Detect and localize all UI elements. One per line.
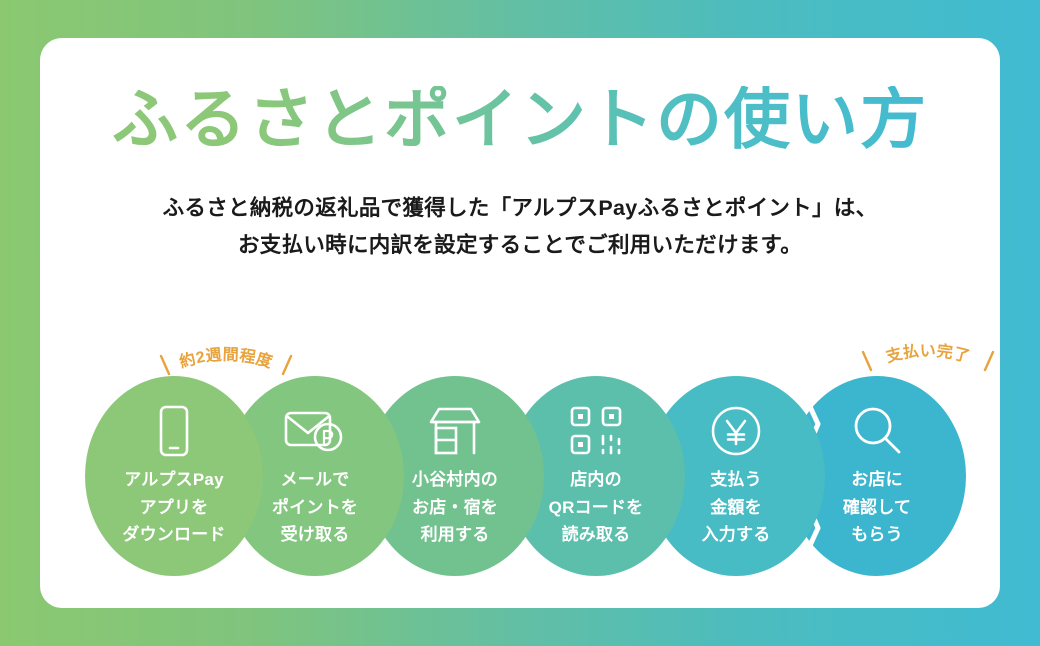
svg-text:支払い完了: 支払い完了	[883, 341, 972, 366]
qr-code-icon	[570, 402, 622, 460]
poster-root: ふるさとポイントの使い方 ふるさと納税の返礼品で獲得した「アルプスPayふるさと…	[0, 0, 1040, 646]
step-1-caption-line-3: ダウンロード	[122, 521, 225, 549]
step-2-caption-line-1: メールで	[272, 466, 358, 494]
step-5-caption-line-3: 入力する	[702, 521, 771, 549]
step-3-caption: 小谷村内のお店・宿を利用する	[412, 466, 498, 549]
yen-circle-icon	[710, 402, 762, 460]
step-6-caption: お店に確認してもらう	[843, 466, 911, 549]
steps-flow: アルプスPayアプリをダウンロードメールでポイントを受け取る小谷村内のお店・宿を…	[85, 338, 965, 588]
mail-point-icon	[284, 402, 346, 460]
step-6-caption-line-2: 確認して	[843, 494, 911, 522]
step-2-caption: メールでポイントを受け取る	[272, 466, 358, 549]
step-5-caption-line-2: 金額を	[702, 494, 771, 522]
step-3-caption-line-1: 小谷村内の	[412, 466, 498, 494]
magnifier-icon	[851, 402, 903, 460]
page-title: ふるさとポイントの使い方	[40, 86, 1000, 152]
step-3-caption-line-3: 利用する	[412, 521, 498, 549]
page-subtitle: ふるさと納税の返礼品で獲得した「アルプスPayふるさとポイント」は、 お支払い時…	[40, 190, 1000, 264]
badge-complete: 支払い完了	[853, 338, 1003, 370]
step-1-caption-line-1: アルプスPay	[122, 466, 225, 494]
step-1-caption: アルプスPayアプリをダウンロード	[122, 466, 225, 549]
step-4-caption-line-1: 店内の	[549, 466, 644, 494]
badge-duration: 約2週間程度	[151, 342, 301, 374]
step-2-caption-line-2: ポイントを	[272, 494, 358, 522]
step-6-caption-line-3: もらう	[843, 521, 911, 549]
step-5-caption: 支払う金額を入力する	[702, 466, 771, 549]
step-3-caption-line-2: お店・宿を	[412, 494, 498, 522]
step-4-caption: 店内のQRコードを読み取る	[549, 466, 644, 549]
step-2-caption-line-3: 受け取る	[272, 521, 358, 549]
badge-duration-text: 約2週間程度	[177, 346, 276, 372]
step-5-caption-line-1: 支払う	[702, 466, 771, 494]
smartphone-icon	[157, 402, 191, 460]
white-card: ふるさとポイントの使い方 ふるさと納税の返礼品で獲得した「アルプスPayふるさと…	[40, 38, 1000, 608]
svg-text:約2週間程度: 約2週間程度	[177, 346, 276, 372]
storefront-icon	[427, 402, 483, 460]
step-1-caption-line-2: アプリを	[122, 494, 225, 522]
step-4-caption-line-2: QRコードを	[549, 494, 644, 522]
subtitle-line-1: ふるさと納税の返礼品で獲得した「アルプスPayふるさとポイント」は、	[40, 190, 1000, 227]
step-1[interactable]: アルプスPayアプリをダウンロード	[85, 376, 263, 576]
subtitle-line-2: お支払い時に内訳を設定することでご利用いただけます。	[40, 227, 1000, 264]
badge-complete-text: 支払い完了	[883, 341, 972, 366]
step-4-caption-line-3: 読み取る	[549, 521, 644, 549]
step-6-caption-line-1: お店に	[843, 466, 911, 494]
